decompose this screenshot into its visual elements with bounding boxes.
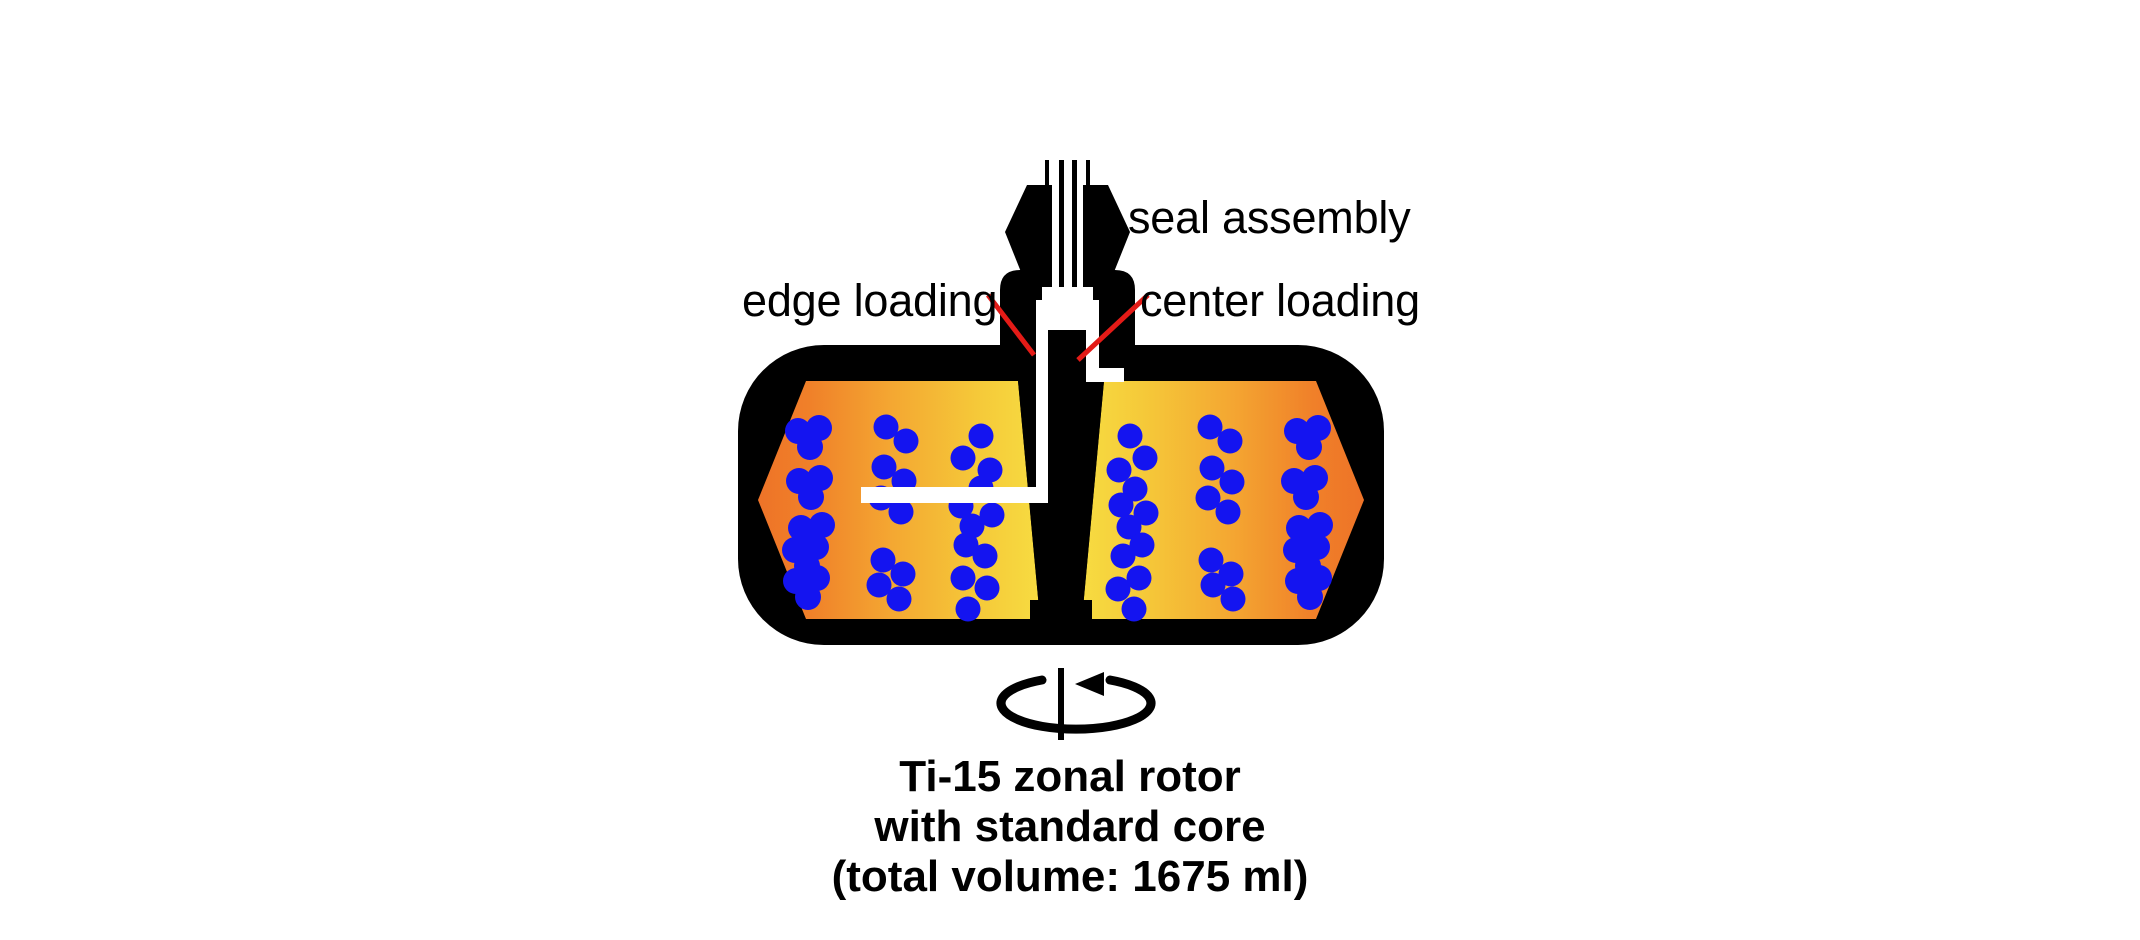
caption-line-3: (total volume: 1675 ml): [0, 852, 2140, 902]
rotor-core-septum: [1018, 381, 1104, 645]
diagram-canvas: seal assembly edge loading center loadin…: [0, 0, 2140, 940]
figure-caption: Ti-15 zonal rotor with standard core (to…: [0, 752, 2140, 902]
rotation-arrow-icon: [1001, 668, 1151, 740]
right-chamber: [1082, 381, 1364, 622]
caption-line-1: Ti-15 zonal rotor: [0, 752, 2140, 802]
seal-assembly-icon: [1005, 160, 1130, 287]
label-edge-loading: edge loading: [742, 275, 997, 327]
label-center-loading: center loading: [1140, 275, 1420, 327]
label-seal-assembly: seal assembly: [1128, 192, 1411, 244]
caption-line-2: with standard core: [0, 802, 2140, 852]
